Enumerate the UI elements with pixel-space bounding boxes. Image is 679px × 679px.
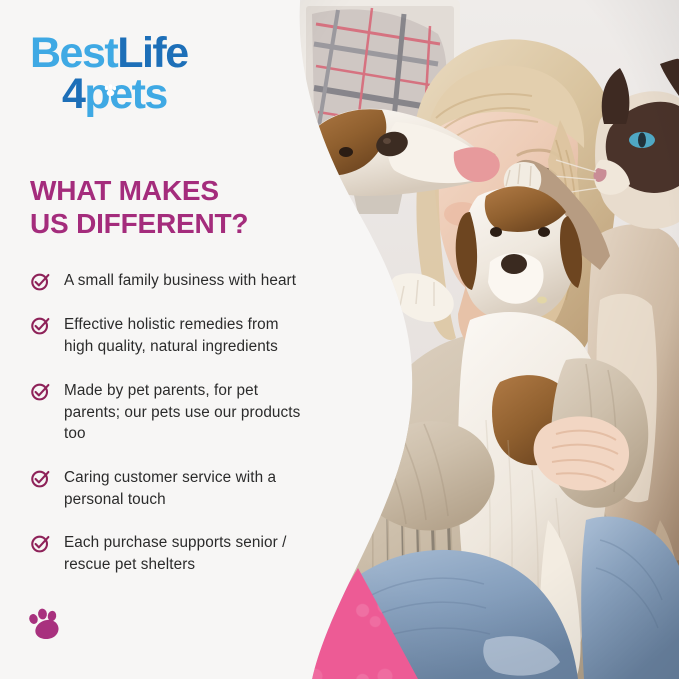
list-item: A small family business with heart	[30, 270, 310, 292]
list-item: Caring customer service with a personal …	[30, 467, 310, 510]
benefits-list: A small family business with heart Effec…	[30, 270, 310, 575]
marketing-infographic-card: BestLife 4pets WHAT MAKES US DIFFERENT? …	[0, 0, 679, 679]
headline-line-1: WHAT MAKES	[30, 174, 310, 207]
check-circle-icon	[30, 381, 51, 402]
paw-print-icon	[27, 607, 65, 643]
list-item-label: Effective holistic remedies from high qu…	[64, 314, 310, 357]
paw-print-icon	[103, 84, 118, 97]
list-item: Each purchase supports senior / rescue p…	[30, 532, 310, 575]
list-item-label: Each purchase supports senior / rescue p…	[64, 532, 310, 575]
page-title: WHAT MAKES US DIFFERENT?	[30, 174, 310, 240]
list-item-label: A small family business with heart	[64, 270, 296, 292]
logo-line-2: 4pets	[62, 74, 310, 115]
check-circle-icon	[30, 468, 51, 489]
check-circle-icon	[30, 315, 51, 336]
bestlife4pets-logo[interactable]: BestLife 4pets	[30, 34, 310, 114]
check-circle-icon	[30, 271, 51, 292]
headline-line-2: US DIFFERENT?	[30, 207, 310, 240]
list-item-label: Caring customer service with a personal …	[64, 467, 310, 510]
list-item: Made by pet parents, for pet parents; ou…	[30, 380, 310, 445]
logo-text-pets: pets	[84, 70, 166, 118]
check-circle-icon	[30, 533, 51, 554]
list-item: Effective holistic remedies from high qu…	[30, 314, 310, 357]
logo-line-1: BestLife	[30, 34, 310, 74]
logo-pets-label: pets	[84, 70, 166, 118]
list-item-label: Made by pet parents, for pet parents; ou…	[64, 380, 310, 445]
logo-text-4: 4	[62, 70, 84, 118]
content-column: BestLife 4pets WHAT MAKES US DIFFERENT? …	[0, 0, 310, 679]
